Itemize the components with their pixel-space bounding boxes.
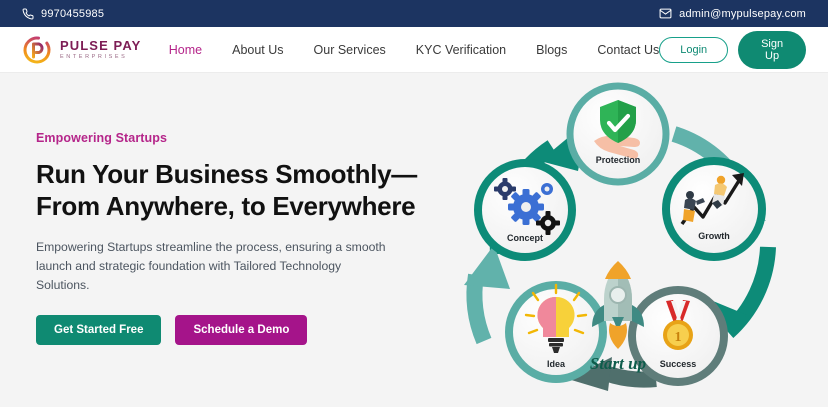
cycle-node-protection[interactable]: Protection: [570, 86, 666, 182]
phone-number: 9970455985: [41, 8, 104, 20]
subcopy-line-2: launch and strategic foundation with Tai…: [36, 259, 341, 292]
hero-section: Empowering Startups Run Your Business Sm…: [0, 73, 828, 407]
subcopy-line-1: Empowering Startups streamline the proce…: [36, 240, 386, 254]
hero-copy: Empowering Startups Run Your Business Sm…: [0, 73, 430, 407]
node-label-concept: Concept: [507, 233, 543, 243]
get-started-free-button[interactable]: Get Started Free: [36, 315, 161, 345]
email-address: admin@mypulsepay.com: [679, 8, 806, 20]
brand-tagline: ENTERPRISES: [60, 55, 141, 61]
nav-item-blogs[interactable]: Blogs: [536, 43, 567, 57]
startup-cycle-diagram: Protection: [460, 79, 820, 407]
pulse-pay-logo-icon: [22, 35, 52, 65]
nav-actions: Login Sign Up: [659, 31, 806, 69]
headline-line-2: From Anywhere, to Everywhere: [36, 191, 430, 223]
brand-name: PULSE PAY: [60, 39, 141, 52]
node-label-growth: Growth: [698, 231, 730, 241]
arrow-idea-to-concept: [464, 245, 510, 341]
nav-item-our-services[interactable]: Our Services: [314, 43, 386, 57]
nav-links: Home About Us Our Services KYC Verificat…: [169, 43, 659, 57]
cycle-node-growth[interactable]: Growth: [666, 161, 762, 257]
brand-logo[interactable]: PULSE PAY ENTERPRISES: [22, 35, 169, 65]
medal-rank-number: 1: [675, 330, 682, 345]
email-contact[interactable]: admin@mypulsepay.com: [659, 7, 806, 20]
nav-item-home[interactable]: Home: [169, 43, 202, 57]
top-utility-bar: 9970455985 admin@mypulsepay.com: [0, 0, 828, 27]
startup-center-label: Start up: [590, 354, 646, 373]
hero-subcopy: Empowering Startups streamline the proce…: [36, 238, 396, 295]
headline-line-1: Run Your Business Smoothly—: [36, 159, 430, 191]
schedule-a-demo-button[interactable]: Schedule a Demo: [175, 315, 307, 345]
node-label-protection: Protection: [596, 155, 641, 165]
hero-cta-row: Get Started Free Schedule a Demo: [36, 315, 430, 345]
main-navbar: PULSE PAY ENTERPRISES Home About Us Our …: [0, 27, 828, 73]
phone-contact[interactable]: 9970455985: [22, 8, 104, 20]
login-button[interactable]: Login: [659, 37, 728, 63]
hero-eyebrow: Empowering Startups: [36, 131, 430, 145]
hero-illustration: Protection: [430, 73, 828, 407]
page-title: Run Your Business Smoothly— From Anywher…: [36, 159, 430, 222]
envelope-icon: [659, 7, 672, 20]
nav-item-kyc-verification[interactable]: KYC Verification: [416, 43, 506, 57]
node-label-idea: Idea: [547, 359, 566, 369]
nav-item-about-us[interactable]: About Us: [232, 43, 283, 57]
cycle-node-concept[interactable]: Concept: [478, 163, 572, 257]
nav-item-contact-us[interactable]: Contact Us: [597, 43, 659, 57]
signup-button[interactable]: Sign Up: [738, 31, 806, 69]
node-label-success: Success: [660, 359, 697, 369]
phone-icon: [22, 8, 34, 20]
